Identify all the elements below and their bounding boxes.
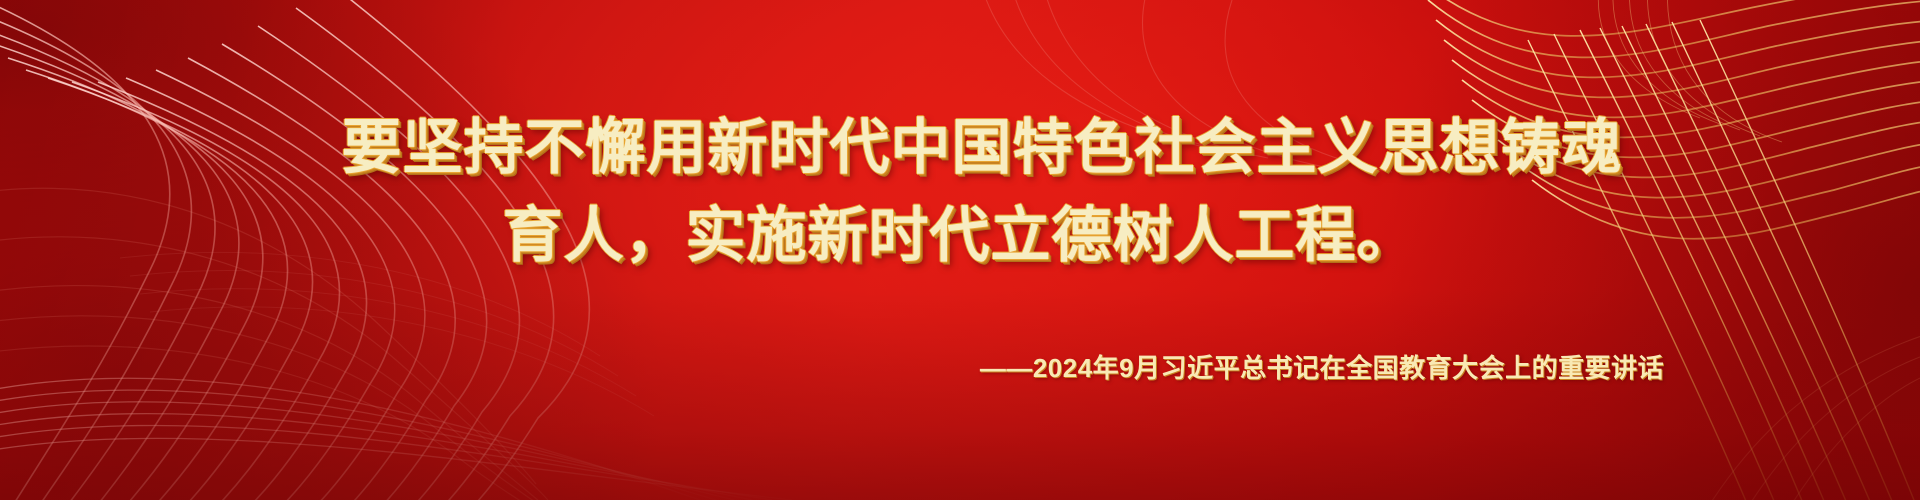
quote-line-2: 育人，实施新时代立德树人工程。 (0, 192, 1920, 280)
quote-attribution: ——2024年9月习近平总书记在全国教育大会上的重要讲话 (0, 348, 1920, 385)
quote-line-1: 要坚持不懈用新时代中国特色社会主义思想铸魂 (0, 104, 1920, 192)
propaganda-banner: 要坚持不懈用新时代中国特色社会主义思想铸魂 育人，实施新时代立德树人工程。 ——… (0, 0, 1920, 500)
quote-line-1-text: 要坚持不懈用新时代中国特色社会主义思想铸魂 (22, 104, 1920, 192)
banner-content: 要坚持不懈用新时代中国特色社会主义思想铸魂 育人，实施新时代立德树人工程。 ——… (0, 0, 1920, 500)
quote-line-2-text: 育人，实施新时代立德树人工程。 (0, 192, 1920, 280)
